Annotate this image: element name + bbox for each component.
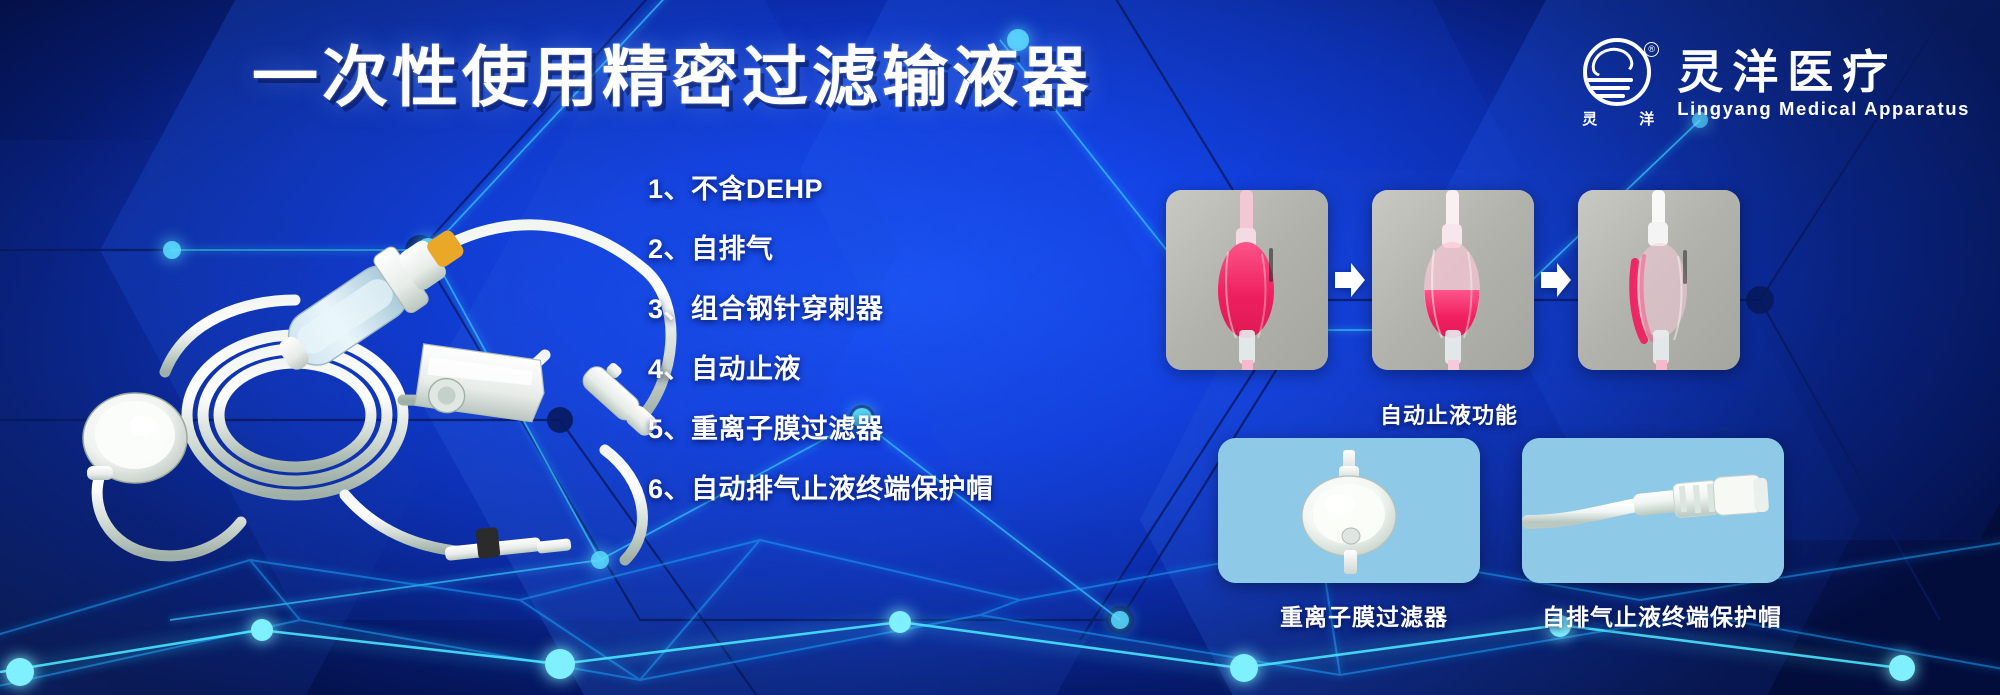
needle-hub: [445, 527, 572, 561]
auto-stop-demo-row: [1166, 190, 1740, 370]
auto-stop-step-2-photo: [1372, 190, 1534, 370]
air-filter-disc: [83, 393, 187, 483]
auto-stop-step-3-photo: [1578, 190, 1740, 370]
component-panel-row: [1218, 438, 1784, 583]
auto-stop-demo-caption: 自动止液功能: [1380, 398, 1518, 430]
emblem-char-right: 洋: [1639, 108, 1654, 129]
feature-item-6: 6、自动排气止液终端保护帽: [648, 476, 994, 503]
registered-trademark-icon: ®: [1644, 42, 1659, 57]
feature-item-1: 1、不含DEHP: [648, 176, 994, 203]
feature-item-2: 2、自排气: [648, 236, 994, 263]
sequence-arrow-1-icon: [1328, 263, 1372, 297]
company-name-cn: 灵洋医疗: [1677, 48, 1897, 97]
auto-stop-step-1-photo: [1166, 190, 1328, 370]
emblem-wave-line: [1590, 86, 1630, 90]
sequence-arrow-2-icon: [1534, 263, 1578, 297]
emblem-wave-line: [1587, 78, 1633, 82]
feature-item-5: 5、重离子膜过滤器: [648, 416, 994, 443]
logo-text-block: 灵洋医疗 Lingyang Medical Apparatus: [1677, 48, 1970, 121]
emblem-wave-line: [1595, 94, 1625, 98]
emblem-char-left: 灵: [1582, 108, 1597, 129]
filter-panel-caption: 重离子膜过滤器: [1280, 598, 1448, 632]
self-venting-terminal-cap-photo: [1522, 438, 1784, 583]
company-logo: ® 灵 洋 灵洋医疗 Lingyang Medical Apparatus: [1579, 38, 1970, 130]
emblem-subtitle: 灵 洋: [1579, 108, 1657, 129]
page-title: 一次性使用精密过滤输液器: [252, 44, 1092, 110]
product-banner: 一次性使用精密过滤输液器 ® 灵 洋 灵洋医疗 Lingyang Medical…: [0, 0, 2000, 695]
feature-item-4: 4、自动止液: [648, 356, 994, 383]
lingyang-emblem-icon: ® 灵 洋: [1579, 38, 1657, 130]
feature-item-3: 3、组合钢针穿刺器: [648, 296, 994, 323]
feature-list: 1、不含DEHP 2、自排气 3、组合钢针穿刺器 4、自动止液 5、重离子膜过滤…: [648, 176, 994, 503]
product-photo: [45, 150, 685, 570]
terminal-cap-panel-caption: 自排气止液终端保护帽: [1542, 598, 1782, 632]
roller-clamp: [415, 344, 549, 426]
heavy-ion-membrane-filter-photo: [1218, 438, 1480, 583]
company-name-en: Lingyang Medical Apparatus: [1677, 98, 1970, 120]
